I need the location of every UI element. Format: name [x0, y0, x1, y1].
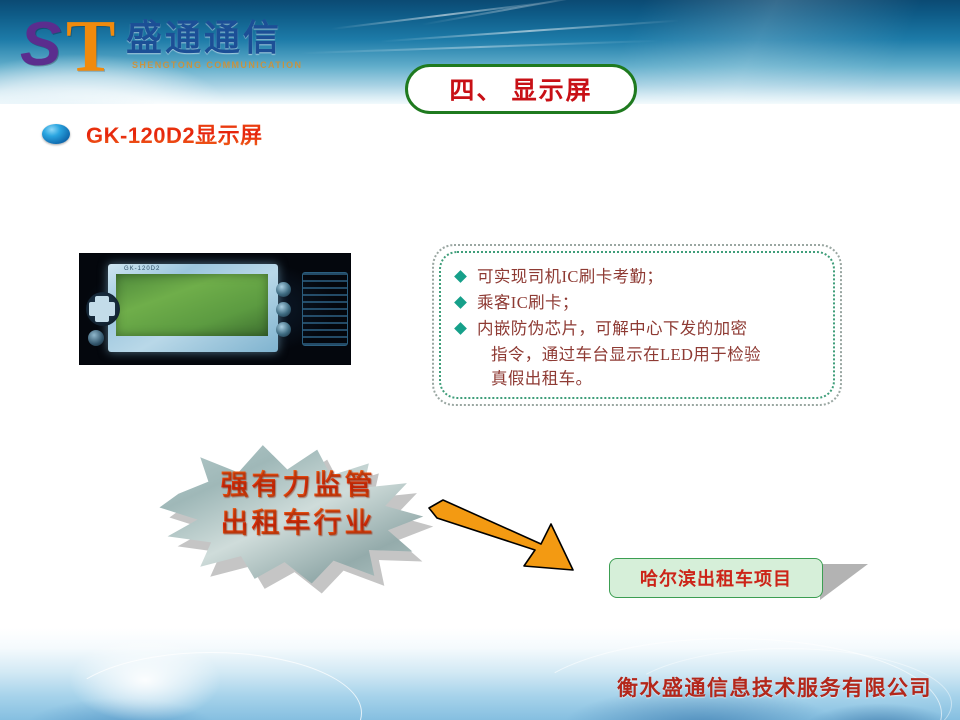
list-item: 内嵌防伪芯片，可解中心下发的加密: [455, 317, 819, 341]
list-item: 乘客IC刷卡；: [455, 291, 819, 315]
logo-company-name-en: SHENGTONG COMMUNICATION: [132, 60, 302, 70]
list-item: 可实现司机IC刷卡考勤；: [455, 265, 819, 289]
device-button-icon: [276, 282, 291, 297]
diamond-bullet-icon: [454, 296, 467, 309]
gk-120d2-display-device-photo: GK-120D2: [80, 254, 350, 364]
diamond-bullet-icon: [454, 270, 467, 283]
wordart-starburst: 强有力监管 出租车行业: [148, 432, 448, 608]
device-speaker-grille-icon: [302, 272, 348, 346]
header-wisp: [300, 40, 660, 55]
company-logo: S T 盛通通信 SHENGTONG COMMUNICATION: [14, 12, 314, 74]
feature-text-continuation: 指令，通过车台显示在LED用于检验: [455, 343, 819, 367]
wordart-text: 强有力监管 出租车行业: [148, 466, 448, 542]
footer-light-flare: [40, 628, 250, 720]
feature-text-continuation: 真假出租车。: [455, 367, 819, 391]
project-box-shadow: [820, 564, 868, 600]
feature-text: 内嵌防伪芯片，可解中心下发的加密: [477, 319, 747, 338]
project-callout-box: 哈尔滨出租车项目: [609, 558, 823, 598]
header-wisp: [331, 0, 560, 30]
slide-title-pill: 四、 显示屏: [405, 64, 637, 114]
device-button-icon: [276, 322, 291, 337]
device-knob-icon: [88, 330, 104, 346]
logo-company-name-cn: 盛通通信: [126, 18, 282, 58]
feature-text: 乘客IC刷卡；: [477, 293, 579, 312]
page-title: 四、 显示屏: [449, 71, 592, 107]
feature-callout-inner: 可实现司机IC刷卡考勤； 乘客IC刷卡； 内嵌防伪芯片，可解中心下发的加密 指令…: [439, 251, 835, 399]
device-dpad-icon: [86, 292, 120, 326]
wordart-line-1: 强有力监管: [148, 466, 448, 504]
header-wisp: [380, 20, 679, 43]
device-button-icon: [276, 302, 291, 317]
blue-ellipse-bullet-icon: [42, 124, 70, 144]
footer-company-name: 衡水盛通信息技术服务有限公司: [617, 672, 932, 702]
feature-callout-box: 可实现司机IC刷卡考勤； 乘客IC刷卡； 内嵌防伪芯片，可解中心下发的加密 指令…: [432, 244, 842, 406]
footer-background: 衡水盛通信息技术服务有限公司: [0, 628, 960, 720]
section-subtitle: GK-120D2显示屏: [42, 118, 263, 150]
wordart-line-2: 出租车行业: [148, 504, 448, 542]
logo-letter-t: T: [66, 10, 115, 84]
diamond-bullet-icon: [454, 322, 467, 335]
header-wisp: [421, 0, 599, 26]
subtitle-label: GK-120D2显示屏: [86, 118, 263, 150]
orange-arrow-icon: [425, 498, 580, 578]
device-lcd-screen: [116, 274, 268, 336]
feature-list: 可实现司机IC刷卡考勤； 乘客IC刷卡； 内嵌防伪芯片，可解中心下发的加密 指令…: [455, 265, 819, 391]
orange-arrow: [425, 498, 580, 578]
project-label: 哈尔滨出租车项目: [640, 565, 792, 591]
device-model-label: GK-120D2: [124, 266, 160, 272]
slide-canvas: S T 盛通通信 SHENGTONG COMMUNICATION 四、 显示屏 …: [0, 0, 960, 720]
logo-letter-s: S: [20, 14, 58, 76]
feature-text: 可实现司机IC刷卡考勤；: [477, 267, 663, 286]
